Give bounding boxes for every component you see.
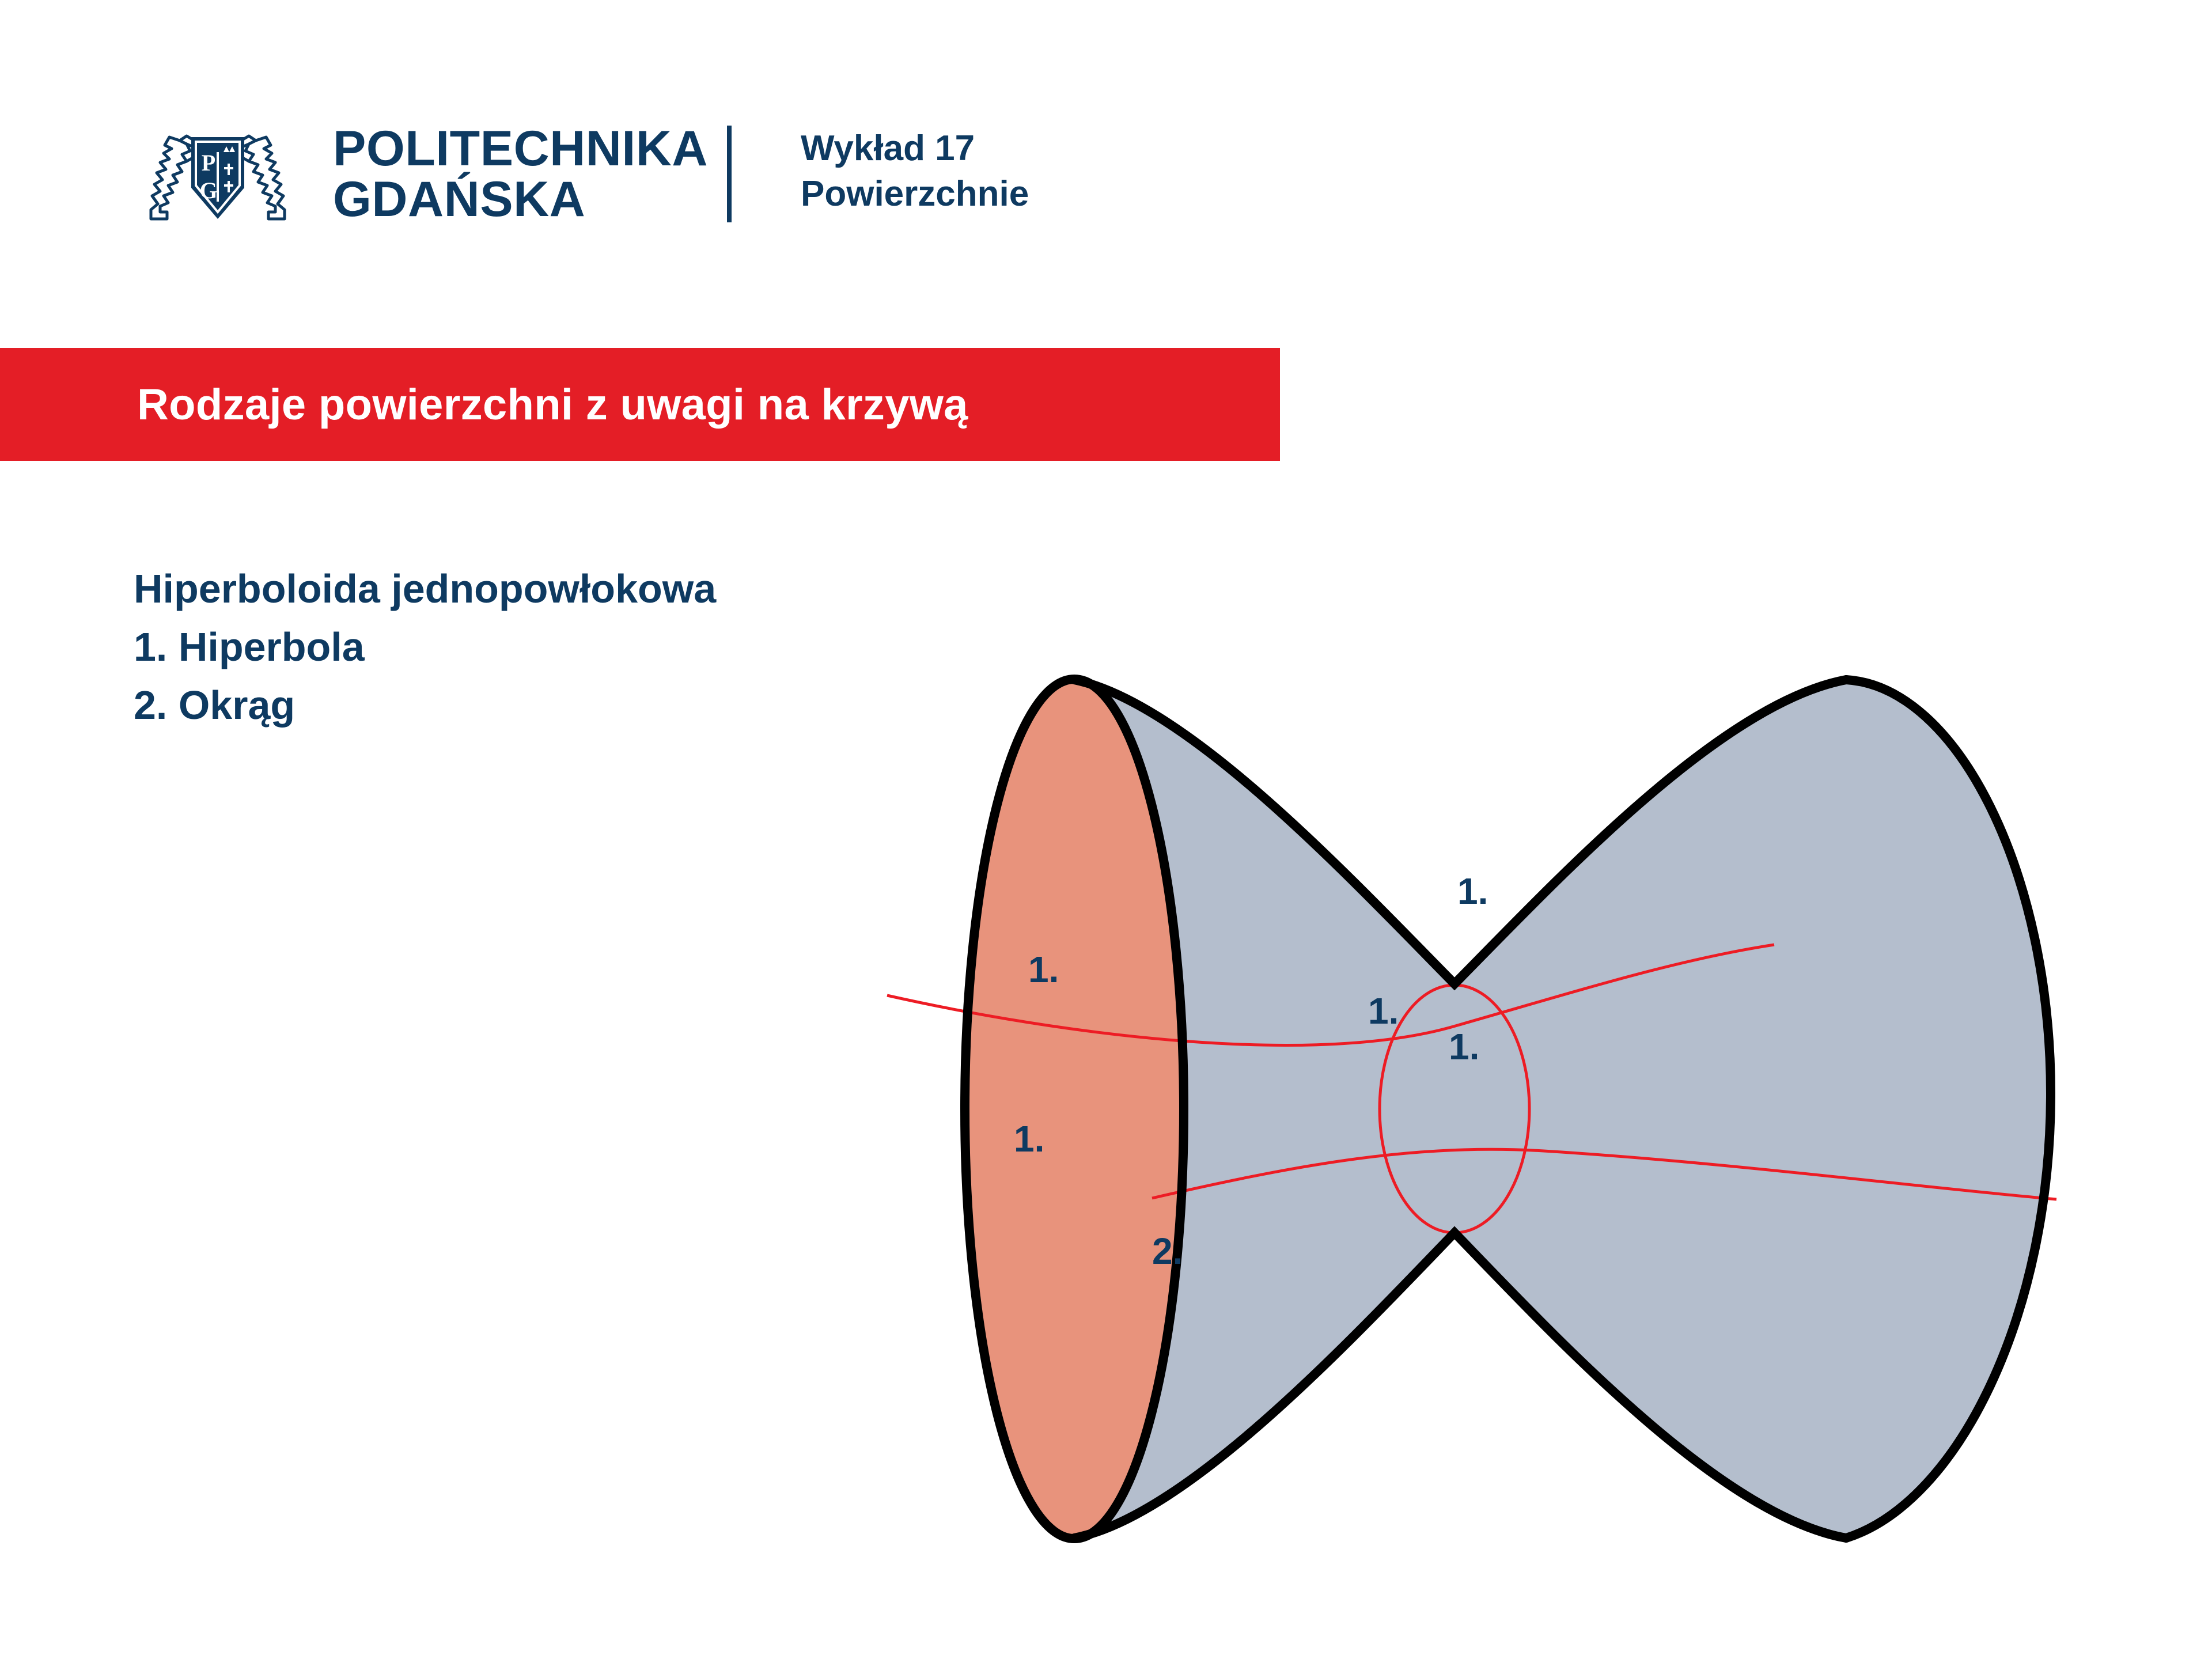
content-text-block: Hiperboloida jednopowłokowa 1. Hiperbola… [134,560,716,734]
svg-text:G: G [199,177,217,203]
content-item-2: 2. Okrąg [134,676,716,734]
content-heading: Hiperboloida jednopowłokowa [134,560,716,618]
lecture-topic: Powierzchnie [801,171,1029,217]
content-item-1: 1. Hiperbola [134,618,716,676]
lecture-info: Wykład 17 Powierzchnie [801,126,1029,217]
section-banner: Rodzaje powierzchni z uwagi na krzywą [0,348,1280,461]
header-divider [727,126,732,222]
hyperboloid-figure: 1. 1. 1. 1. 1. 2. [829,622,2131,1601]
lecture-number: Wykład 17 [801,126,1029,171]
university-logo: P G POLITECHNIKA GDAŃSKA [131,120,708,229]
section-title: Rodzaje powierzchni z uwagi na krzywą [137,380,968,430]
pg-coat-of-arms-icon: P G [131,120,304,229]
slide-header: P G POLITECHNIKA GDAŃSKA Wykład 17 Powie… [0,0,2212,323]
hyperboloid-drawing [829,622,2131,1601]
university-wordmark: POLITECHNIKA GDAŃSKA [333,124,708,225]
svg-text:P: P [202,150,215,176]
